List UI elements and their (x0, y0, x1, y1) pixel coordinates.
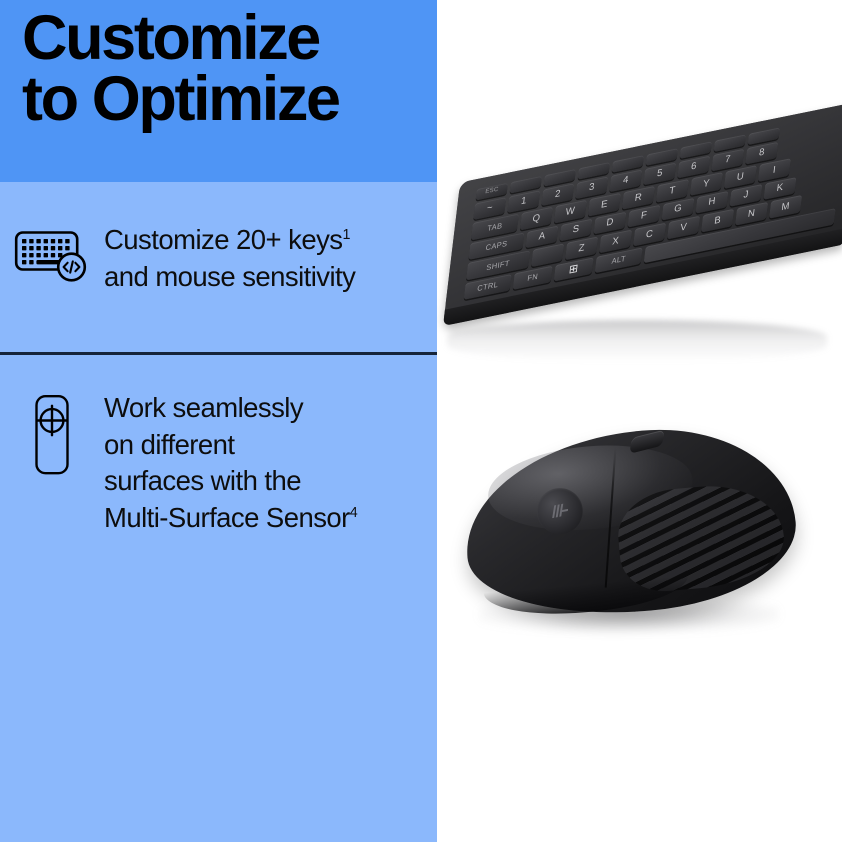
feature-line: Customize 20+ keys1 (104, 222, 421, 259)
promo-canvas: Customize to Optimize (0, 0, 842, 842)
keyboard-code-icon (0, 222, 104, 284)
keyboard-reflection (447, 320, 827, 362)
feature-item-multi-surface: Work seamlessly on different surfaces wi… (0, 390, 437, 536)
page-title: Customize to Optimize (22, 8, 442, 130)
keyboard-body: ESC~12345678TABQWERTYUICAPSASDFGHJKSHIFT… (443, 101, 842, 326)
feature-line: Multi-Surface Sensor4 (104, 500, 421, 537)
mouse-body (458, 418, 802, 626)
multi-surface-sensor-icon (0, 390, 104, 476)
feature-line: on different (104, 427, 421, 464)
feature-line: and mouse sensitivity (104, 259, 421, 296)
feature-item-customize-keys: Customize 20+ keys1 and mouse sensitivit… (0, 222, 437, 295)
headline-line-1: Customize (22, 8, 442, 69)
product-image-area: ESC~12345678TABQWERTYUICAPSASDFGHJKSHIFT… (437, 0, 842, 842)
wireless-keyboard-photo: ESC~12345678TABQWERTYUICAPSASDFGHJKSHIFT… (437, 168, 842, 368)
feature-line: Work seamlessly (104, 390, 421, 427)
feature-line: surfaces with the (104, 463, 421, 500)
feature-text-multi-surface: Work seamlessly on different surfaces wi… (104, 390, 437, 536)
footnote-marker: 4 (350, 505, 357, 521)
feature-text-customize-keys: Customize 20+ keys1 and mouse sensitivit… (104, 222, 437, 295)
footnote-marker: 1 (342, 227, 349, 243)
headline-line-2: to Optimize (22, 69, 442, 130)
feature-divider (0, 352, 437, 355)
feature-panel: Customize to Optimize (0, 0, 437, 842)
wireless-mouse-photo (455, 418, 815, 658)
headline-band: Customize to Optimize (0, 0, 437, 182)
